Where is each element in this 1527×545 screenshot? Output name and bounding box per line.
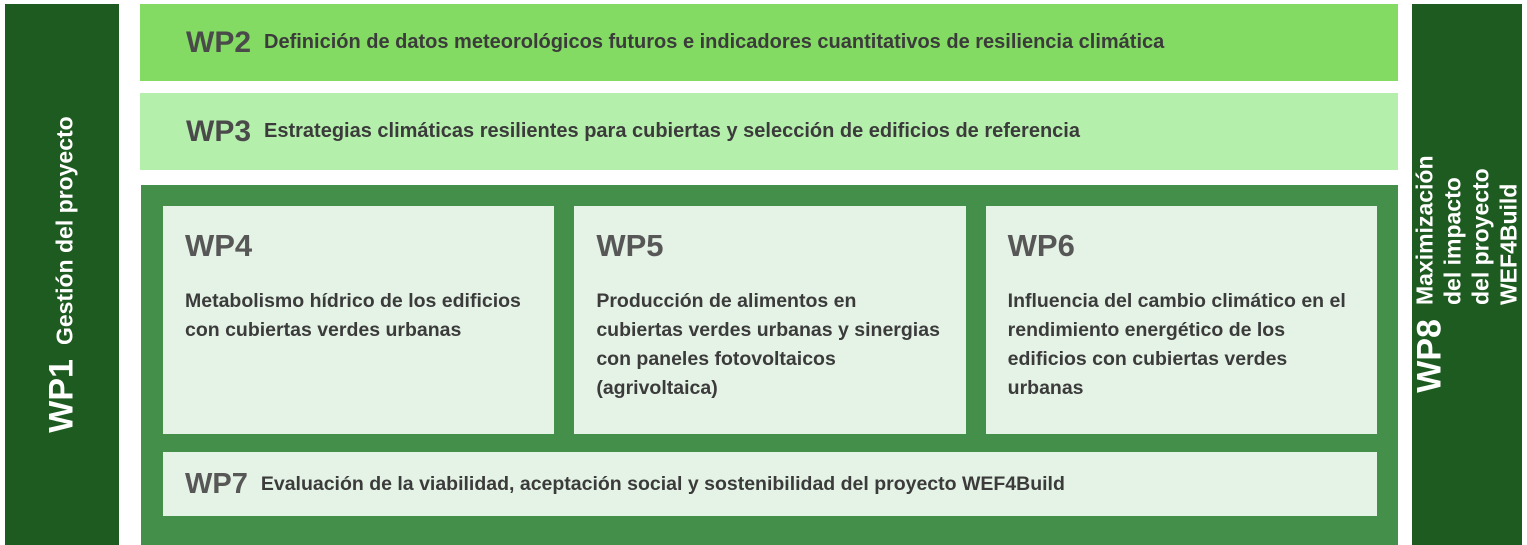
wp8-rotated-label: WP8 Maximización del impacto del proyect… bbox=[1411, 156, 1523, 393]
wp6-code: WP6 bbox=[1008, 230, 1355, 261]
wp3-bar[interactable]: WP3 Estrategias climáticas resilientes p… bbox=[140, 93, 1398, 170]
wp5-description: Producción de alimentos en cubiertas ver… bbox=[596, 287, 943, 402]
wp2-description: Definición de datos meteorológicos futur… bbox=[264, 31, 1164, 54]
wp6-description: Influencia del cambio climático en el re… bbox=[1008, 287, 1355, 402]
wp6-card[interactable]: WP6 Influencia del cambio climático en e… bbox=[986, 206, 1377, 434]
wp8-code: WP8 bbox=[1411, 319, 1450, 393]
wp5-card[interactable]: WP5 Producción de alimentos en cubiertas… bbox=[574, 206, 965, 434]
wp3-code: WP3 bbox=[186, 115, 251, 149]
wp2-bar[interactable]: WP2 Definición de datos meteorológicos f… bbox=[140, 4, 1398, 81]
wp1-rotated-label: WP1 Gestión del proyecto bbox=[43, 116, 82, 432]
wp4-code: WP4 bbox=[185, 230, 532, 261]
wp4-description: Metabolismo hídrico de los edificios con… bbox=[185, 287, 532, 345]
card-row: WP4 Metabolismo hídrico de los edificios… bbox=[163, 206, 1377, 434]
wp4-card[interactable]: WP4 Metabolismo hídrico de los edificios… bbox=[163, 206, 554, 434]
wp8-panel[interactable]: WP8 Maximización del impacto del proyect… bbox=[1412, 4, 1522, 545]
wp1-panel[interactable]: WP1 Gestión del proyecto bbox=[5, 4, 119, 545]
wp3-description: Estrategias climáticas resilientes para … bbox=[264, 120, 1080, 143]
wp2-code: WP2 bbox=[186, 26, 251, 60]
wp8-description: Maximización del impacto del proyecto WE… bbox=[1411, 156, 1523, 306]
wp7-code: WP7 bbox=[185, 468, 248, 501]
work-package-diagram: WP1 Gestión del proyecto WP2 Definición … bbox=[0, 0, 1527, 545]
wp7-description: Evaluación de la viabilidad, aceptación … bbox=[261, 473, 1065, 496]
wp1-code: WP1 bbox=[43, 359, 82, 433]
wp7-bar[interactable]: WP7 Evaluación de la viabilidad, aceptac… bbox=[163, 452, 1377, 516]
wp1-description: Gestión del proyecto bbox=[51, 116, 79, 345]
wp5-code: WP5 bbox=[596, 230, 943, 261]
